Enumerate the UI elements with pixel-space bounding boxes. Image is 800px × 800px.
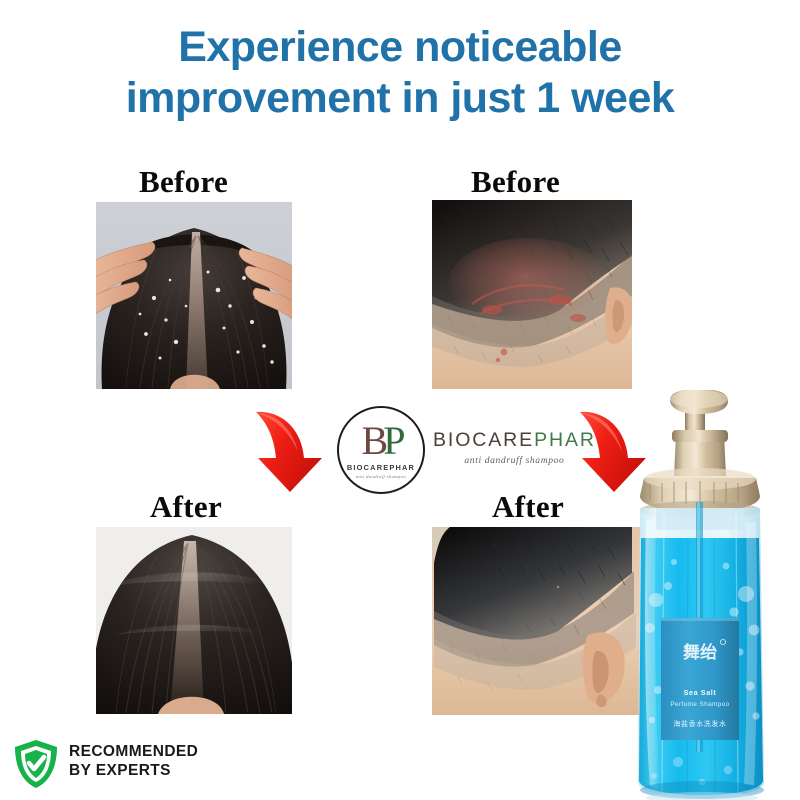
monogram-tagline: anti dandruff shampoo	[356, 474, 406, 479]
page-title: Experience noticeable improvement in jus…	[0, 22, 800, 123]
badge-line-1: RECOMMENDED	[69, 742, 198, 761]
bottle-cjk-description: 海盐香水洗发水	[673, 719, 726, 728]
headline-line-2: improvement in just 1 week	[0, 73, 800, 124]
photo-after-right	[432, 527, 640, 715]
caption-before-left: Before	[139, 164, 228, 200]
photo-after-left	[96, 527, 292, 714]
recommended-by-experts-badge: RECOMMENDED BY EXPERTS	[12, 736, 262, 792]
monogram-bp: BP	[362, 424, 401, 458]
brand-monogram-circle: BP BIOCAREPHAR anti dandruff shampoo	[337, 406, 425, 494]
bottle-product-subtitle: Perfume Shampoo	[670, 701, 729, 708]
photo-before-left	[96, 202, 292, 389]
brand-wordmark: BIOCAREPHAR anti dandruff shampoo	[433, 429, 596, 466]
wordmark-phar: PHAR	[534, 429, 596, 451]
shield-check-icon	[12, 738, 60, 790]
headline-line-1: Experience noticeable	[178, 23, 622, 71]
red-curved-down-arrow-left	[248, 404, 334, 496]
brand-logo: BP BIOCAREPHAR anti dandruff shampoo BIO…	[337, 404, 552, 496]
photo-before-right	[432, 200, 632, 389]
monogram-brand-name: BIOCAREPHAR	[347, 463, 415, 472]
badge-line-2: BY EXPERTS	[69, 761, 198, 780]
badge-text: RECOMMENDED BY EXPERTS	[69, 742, 198, 780]
wordmark-text: BIOCAREPHAR	[433, 429, 596, 452]
bottle-product-name: Sea Salt	[684, 688, 717, 697]
wordmark-biocare: BIOCARE	[433, 429, 534, 451]
product-bottle-image: 舞绐 Sea Salt Perfume Shampoo 海盐香水洗发水	[614, 390, 800, 800]
wordmark-tagline: anti dandruff shampoo	[433, 455, 596, 466]
advertisement-canvas: Experience noticeable improvement in jus…	[0, 0, 800, 800]
bottle-cjk-brand: 舞绐	[683, 642, 717, 663]
caption-before-right: Before	[471, 164, 560, 200]
monogram-letter-p: P	[383, 418, 400, 463]
monogram-letter-b: B	[362, 418, 384, 463]
caption-after-left: After	[150, 489, 222, 525]
